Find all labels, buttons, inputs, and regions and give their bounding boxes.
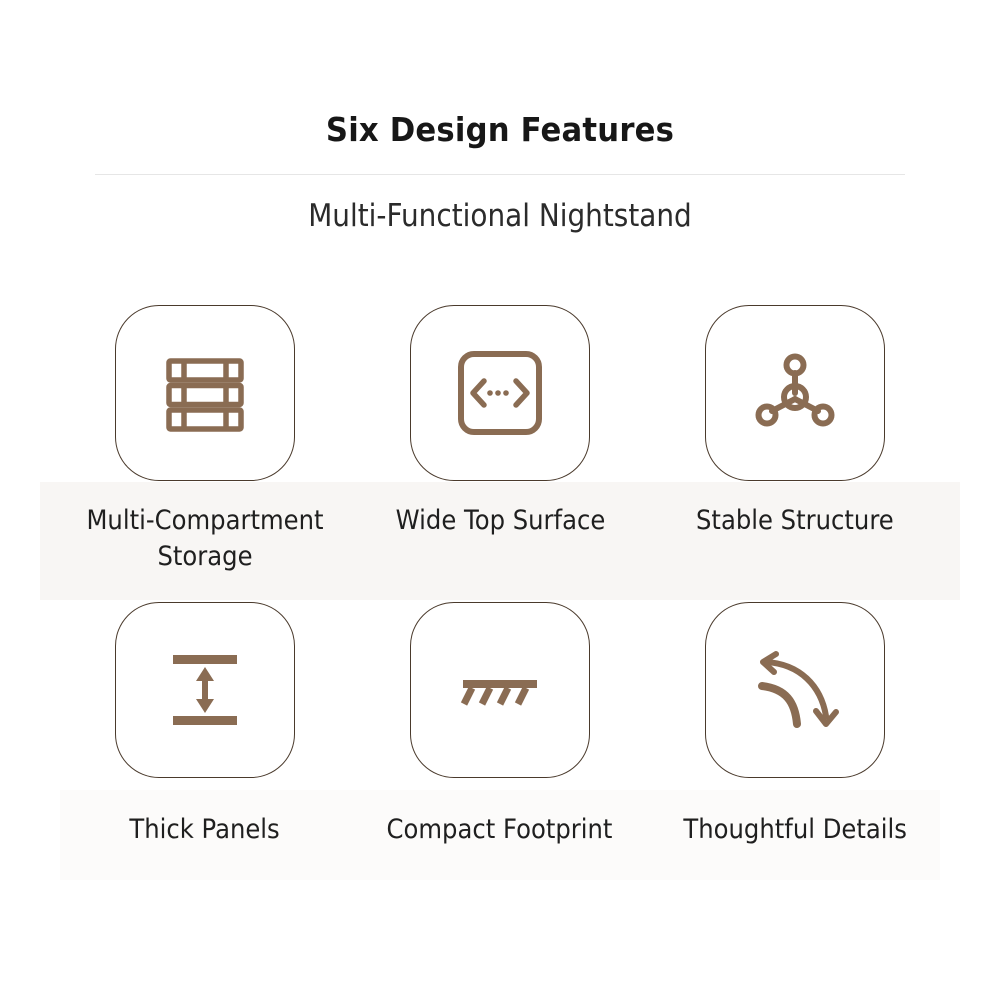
feature-card-thoughtful-details[interactable]: Thoughtful Details — [648, 602, 943, 848]
header-divider — [95, 174, 905, 175]
icon-card-frame — [115, 602, 295, 778]
feature-label: Compact Footprint — [387, 812, 613, 848]
feature-card-stable-structure[interactable]: Stable Structure — [648, 305, 943, 539]
icon-card-frame — [705, 305, 885, 481]
feature-label: Thoughtful Details — [683, 812, 907, 848]
infographic-page: Six Design Features Multi-Functional Nig… — [0, 0, 1000, 1000]
horizontal-expand-icon — [450, 343, 550, 443]
feature-label: Stable Structure — [696, 503, 894, 539]
page-title: Six Design Features — [35, 112, 965, 148]
header: Six Design Features Multi-Functional Nig… — [0, 0, 1000, 235]
molecule-nodes-icon — [745, 343, 845, 443]
feature-card-compact-footprint[interactable]: Compact Footprint — [353, 602, 648, 848]
features-row-top: Multi-Compartment Storage — [0, 305, 1000, 574]
hatched-baseline-icon — [450, 640, 550, 740]
feature-card-thick-panels[interactable]: Thick Panels — [58, 602, 353, 848]
feature-card-multi-compartment-storage[interactable]: Multi-Compartment Storage — [58, 305, 353, 574]
features-grid: Multi-Compartment Storage — [0, 305, 1000, 848]
stacked-drawers-icon — [155, 343, 255, 443]
icon-card-frame — [410, 602, 590, 778]
feature-label: Wide Top Surface — [395, 503, 605, 539]
feature-label: Thick Panels — [130, 812, 280, 848]
page-subtitle: Multi-Functional Nightstand — [50, 199, 950, 235]
icon-card-frame — [705, 602, 885, 778]
curved-double-arrow-icon — [745, 640, 845, 740]
vertical-thickness-arrow-icon — [155, 640, 255, 740]
icon-card-frame — [115, 305, 295, 481]
feature-card-wide-top-surface[interactable]: Wide Top Surface — [353, 305, 648, 539]
icon-card-frame — [410, 305, 590, 481]
feature-label: Multi-Compartment Storage — [75, 503, 336, 574]
features-row-bottom: Thick Panels Compact Footprint — [0, 602, 1000, 848]
